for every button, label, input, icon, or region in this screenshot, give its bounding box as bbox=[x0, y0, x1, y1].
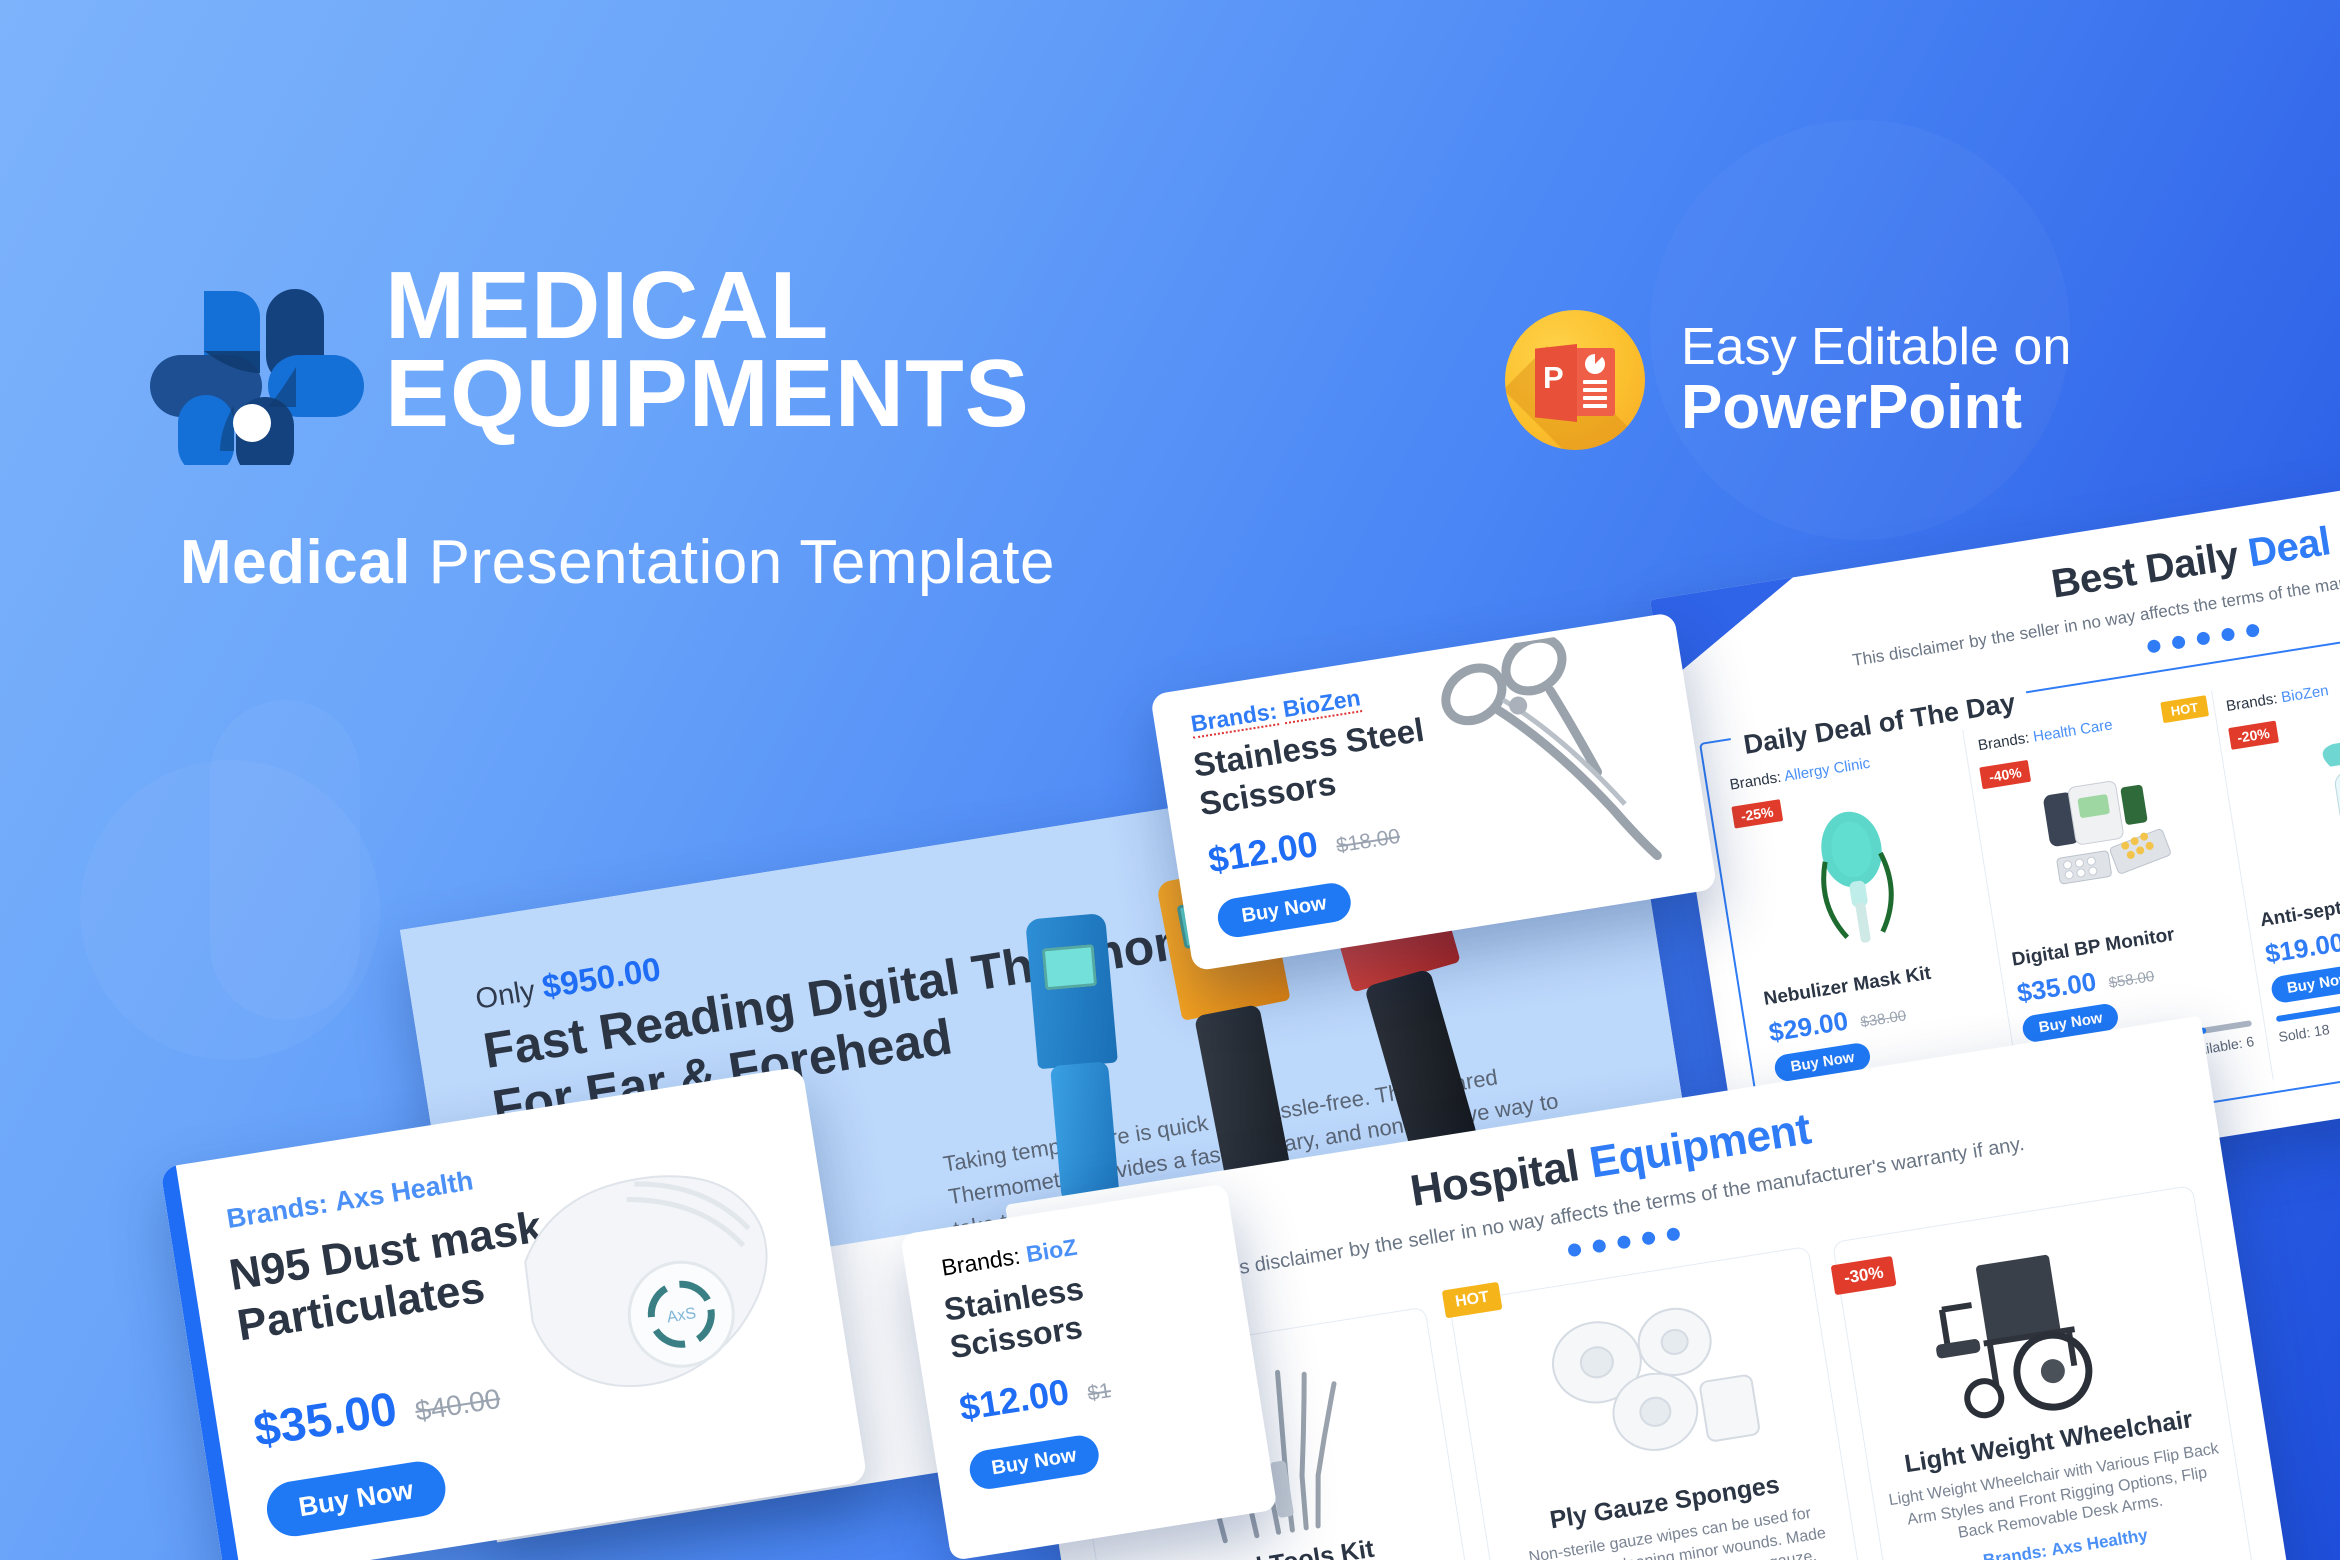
title-line-2: EQUIPMENTS bbox=[385, 350, 1385, 438]
brand-label: Brands: bbox=[224, 1188, 329, 1234]
buy-now-button-wrap: Buy Now bbox=[263, 1458, 449, 1540]
list-item[interactable]: -30% bbox=[1832, 1185, 2260, 1560]
brand-name: Health Care bbox=[2032, 716, 2114, 745]
buy-now-button[interactable]: Buy Now bbox=[967, 1433, 1101, 1492]
brand-label: Brands: bbox=[1982, 1541, 2048, 1560]
gun-body bbox=[1025, 913, 1118, 1069]
buy-now-button[interactable]: Buy Now bbox=[2269, 962, 2340, 1004]
dot bbox=[2245, 623, 2260, 638]
background-blob bbox=[210, 700, 360, 1020]
product-price: $12.00 bbox=[1205, 823, 1320, 882]
hot-badge: HOT bbox=[1441, 1282, 1502, 1319]
powerpoint-doc-glyph: P bbox=[1535, 338, 1615, 422]
subtitle-bold: Medical bbox=[180, 528, 411, 597]
medical-cross-people-logo bbox=[140, 255, 368, 465]
page-title: MEDICAL EQUIPMENTS bbox=[385, 262, 1385, 439]
brand-label: Brands: bbox=[940, 1243, 1022, 1281]
card-stainless-scissors-small[interactable]: Brands: BioZ Stainless Scissors $12.00 $… bbox=[900, 1183, 1278, 1560]
brand-name: Axs Health bbox=[333, 1165, 476, 1216]
sold-count: Sold: 18 bbox=[2277, 1021, 2330, 1045]
product-price: $12.00 bbox=[957, 1371, 1072, 1430]
brand-name: BioZen bbox=[1281, 684, 1362, 724]
product-brand-line: Brands: BioZen bbox=[2225, 663, 2340, 715]
powerpoint-bar bbox=[1583, 388, 1607, 392]
powerpoint-bar bbox=[1583, 404, 1607, 408]
card-n95-dust-mask[interactable]: Brands: Axs Health N95 Dust mask Particu… bbox=[160, 1066, 868, 1560]
subtitle-rest: Presentation Template bbox=[411, 528, 1055, 597]
dot bbox=[2171, 635, 2186, 650]
powerpoint-pie-glyph bbox=[1585, 354, 1605, 374]
brand-name: Allergy Clinic bbox=[1783, 755, 1871, 785]
powerpoint-badge-text: Easy Editable on PowerPoint bbox=[1681, 320, 2071, 440]
product-price-line: $12.00 $18.00 bbox=[1205, 810, 1402, 882]
title-line-1: MEDICAL bbox=[385, 262, 1385, 350]
product-old-price: $38.00 bbox=[1859, 1007, 1907, 1031]
brand-label: Brands: bbox=[2225, 690, 2279, 715]
list-item[interactable]: HOT Ply Gauze Sponges bbox=[1448, 1246, 1876, 1560]
brand-name: BioZen bbox=[2280, 682, 2330, 706]
buy-now-button-wrap: Buy Now bbox=[967, 1433, 1101, 1492]
thermometer-gun-blue bbox=[1007, 911, 1153, 1220]
dot bbox=[2195, 631, 2210, 646]
product-price-line: $35.00 $40.00 bbox=[250, 1364, 503, 1457]
product-price: $35.00 bbox=[250, 1380, 401, 1457]
dot bbox=[2146, 639, 2161, 654]
poster-canvas: MEDICAL EQUIPMENTS Medical Presentation … bbox=[0, 0, 2340, 1560]
powerpoint-badge: P Easy Editable on PowerPoint bbox=[1505, 310, 2071, 450]
brand-label: Brands: bbox=[1729, 769, 1783, 794]
brand-name: BioZ bbox=[1024, 1234, 1079, 1268]
powerpoint-bar bbox=[1583, 380, 1607, 384]
gun-screen bbox=[1042, 944, 1097, 990]
buy-now-button-wrap: Buy Now bbox=[1215, 880, 1353, 939]
dot bbox=[2220, 627, 2235, 642]
powerpoint-letter-p: P bbox=[1543, 362, 1564, 393]
product-old-price: $1 bbox=[1086, 1379, 1113, 1406]
product-old-price: $58.00 bbox=[2107, 968, 2155, 992]
surgical-forceps-image bbox=[1410, 621, 1696, 907]
buy-now-button[interactable]: Buy Now bbox=[263, 1458, 449, 1540]
page-subtitle: Medical Presentation Template bbox=[180, 527, 1055, 598]
daily-title-blue: Deal bbox=[2245, 519, 2333, 575]
badge-line-1: Easy Editable on bbox=[1681, 320, 2071, 375]
product-price-line: $12.00 $1 bbox=[957, 1364, 1114, 1429]
buy-now-button[interactable]: Buy Now bbox=[1215, 880, 1353, 939]
brand-label: Brands: bbox=[1189, 698, 1279, 739]
badge-line-2: PowerPoint bbox=[1681, 375, 2071, 440]
powerpoint-icon: P bbox=[1505, 310, 1645, 450]
brand-label: Brands: bbox=[1977, 729, 2031, 754]
n95-dust-mask-image: AxS bbox=[481, 1131, 821, 1454]
powerpoint-bar bbox=[1583, 396, 1607, 400]
product-old-price: $18.00 bbox=[1335, 825, 1402, 859]
product-old-price: $40.00 bbox=[413, 1383, 503, 1428]
